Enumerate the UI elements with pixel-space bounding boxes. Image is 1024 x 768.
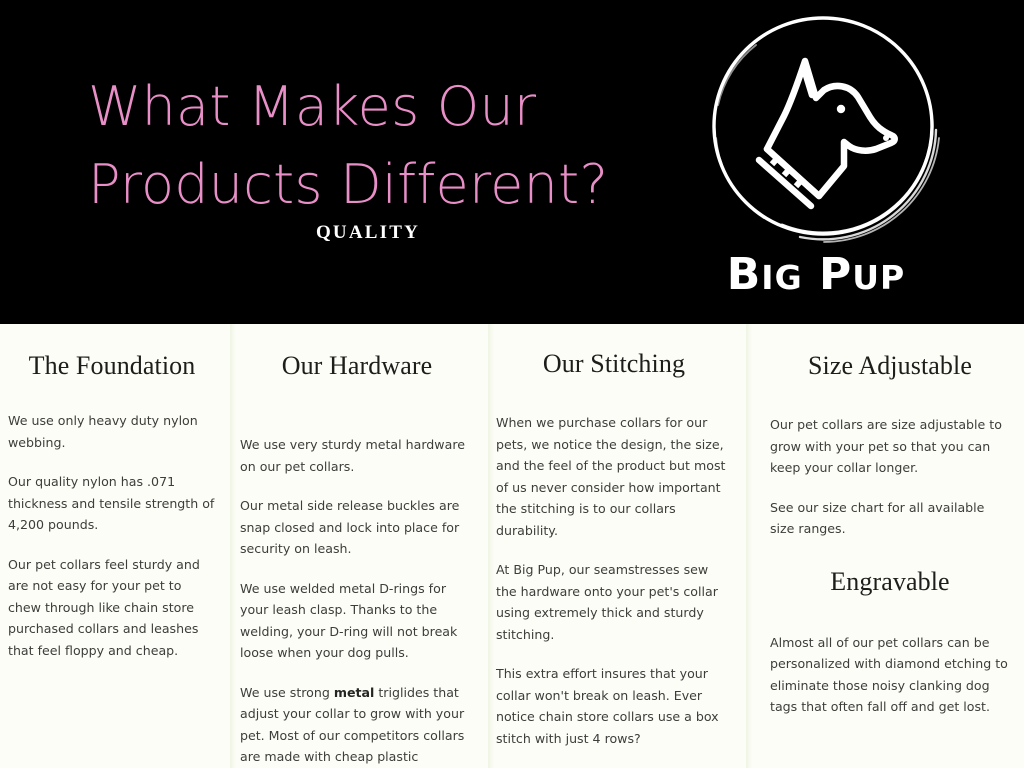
paragraph: At Big Pup, our seamstresses sew the har… xyxy=(496,559,732,645)
page-root: What Makes Our Products Different? QUALI… xyxy=(0,0,1024,768)
paragraph: This extra effort insures that your coll… xyxy=(496,663,732,749)
paragraph: We use welded metal D-rings for your lea… xyxy=(240,578,474,664)
feature-columns: The Foundation We use only heavy duty ny… xyxy=(0,324,1024,768)
column-body-engravable: Almost all of our pet collars can be per… xyxy=(770,600,1010,718)
paragraph: Our quality nylon has .071 thickness and… xyxy=(8,471,216,536)
column-body: When we purchase collars for our pets, w… xyxy=(496,380,732,768)
page-title: What Makes Our Products Different? xyxy=(88,68,648,224)
paragraph: Our metal side release buckles are snap … xyxy=(240,495,474,560)
column-heading-engravable: Engravable xyxy=(770,540,1010,600)
paragraph: When we purchase collars for our pets, w… xyxy=(496,412,732,541)
hero-subtitle: QUALITY xyxy=(88,222,648,244)
column-body: Our pet collars are size adjustable to g… xyxy=(770,382,1010,540)
brand-wordmark: BIG PUP xyxy=(690,250,942,303)
paragraph: See our size chart for all available siz… xyxy=(770,497,1010,540)
wordmark-up: UP xyxy=(852,258,905,297)
paragraph: Our pet collars are size adjustable to g… xyxy=(770,414,1010,479)
hero-banner: What Makes Our Products Different? QUALI… xyxy=(0,0,1024,324)
paragraph: We use very sturdy metal hardware on our… xyxy=(240,434,474,477)
wordmark-p: P xyxy=(803,249,853,300)
column-size-adjustable: Size Adjustable Our pet collars are size… xyxy=(746,324,1024,768)
column-our-hardware: Our Hardware We use very sturdy metal ha… xyxy=(230,324,488,768)
column-body: We use very sturdy metal hardware on our… xyxy=(240,382,474,768)
paragraph: Our pet collars feel sturdy and are not … xyxy=(8,554,216,662)
column-heading: Our Hardware xyxy=(240,324,474,382)
paragraph-bold: metal xyxy=(334,685,375,700)
dog-head-in-circle-icon xyxy=(704,10,944,246)
wordmark-b: B xyxy=(727,249,762,300)
column-body: We use only heavy duty nylon webbing. Ou… xyxy=(8,382,216,661)
paragraph: Almost all of our pet collars can be per… xyxy=(770,632,1010,718)
paragraph-with-emphasis: We use strong metal triglides that adjus… xyxy=(240,682,474,768)
wordmark-ig: IG xyxy=(761,258,802,297)
column-heading: Size Adjustable xyxy=(770,324,1010,382)
column-heading: The Foundation xyxy=(8,324,216,382)
paragraph: We use only heavy duty nylon webbing. xyxy=(8,410,216,453)
brand-logo: BIG PUP xyxy=(690,4,970,320)
column-the-foundation: The Foundation We use only heavy duty ny… xyxy=(0,324,230,768)
column-heading: Our Stitching xyxy=(496,324,732,380)
column-our-stitching: Our Stitching When we purchase collars f… xyxy=(488,324,746,768)
paragraph-pre: We use strong xyxy=(240,685,334,700)
